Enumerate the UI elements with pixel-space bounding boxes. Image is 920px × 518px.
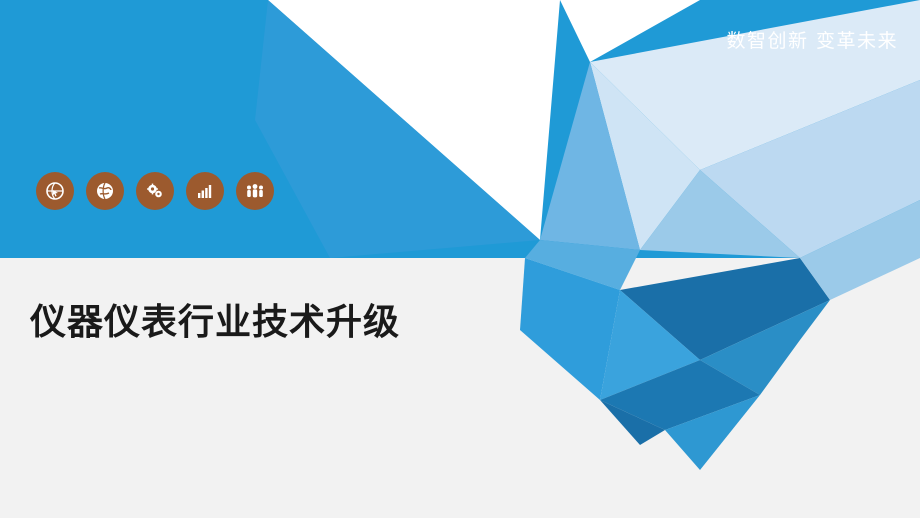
gears-icon: [136, 172, 174, 210]
title-slide: 数智创新 变革未来: [0, 0, 920, 518]
polygon-decoration: [0, 0, 920, 518]
slide-tagline: 数智创新 变革未来: [726, 26, 898, 53]
globe-icon-svg: [95, 181, 115, 201]
people-group-icon-svg: [245, 181, 265, 201]
page-title: 仪器仪表行业技术升级: [30, 293, 400, 345]
bar-chart-icon: [186, 172, 224, 210]
people-group-icon: [236, 172, 274, 210]
globe-cursor-icon: [36, 172, 74, 210]
gears-icon-svg: [145, 181, 165, 201]
globe-cursor-icon-svg: [45, 181, 65, 201]
bar-chart-icon-svg: [195, 181, 215, 201]
globe-icon: [86, 172, 124, 210]
icon-badge-row: [36, 172, 274, 210]
